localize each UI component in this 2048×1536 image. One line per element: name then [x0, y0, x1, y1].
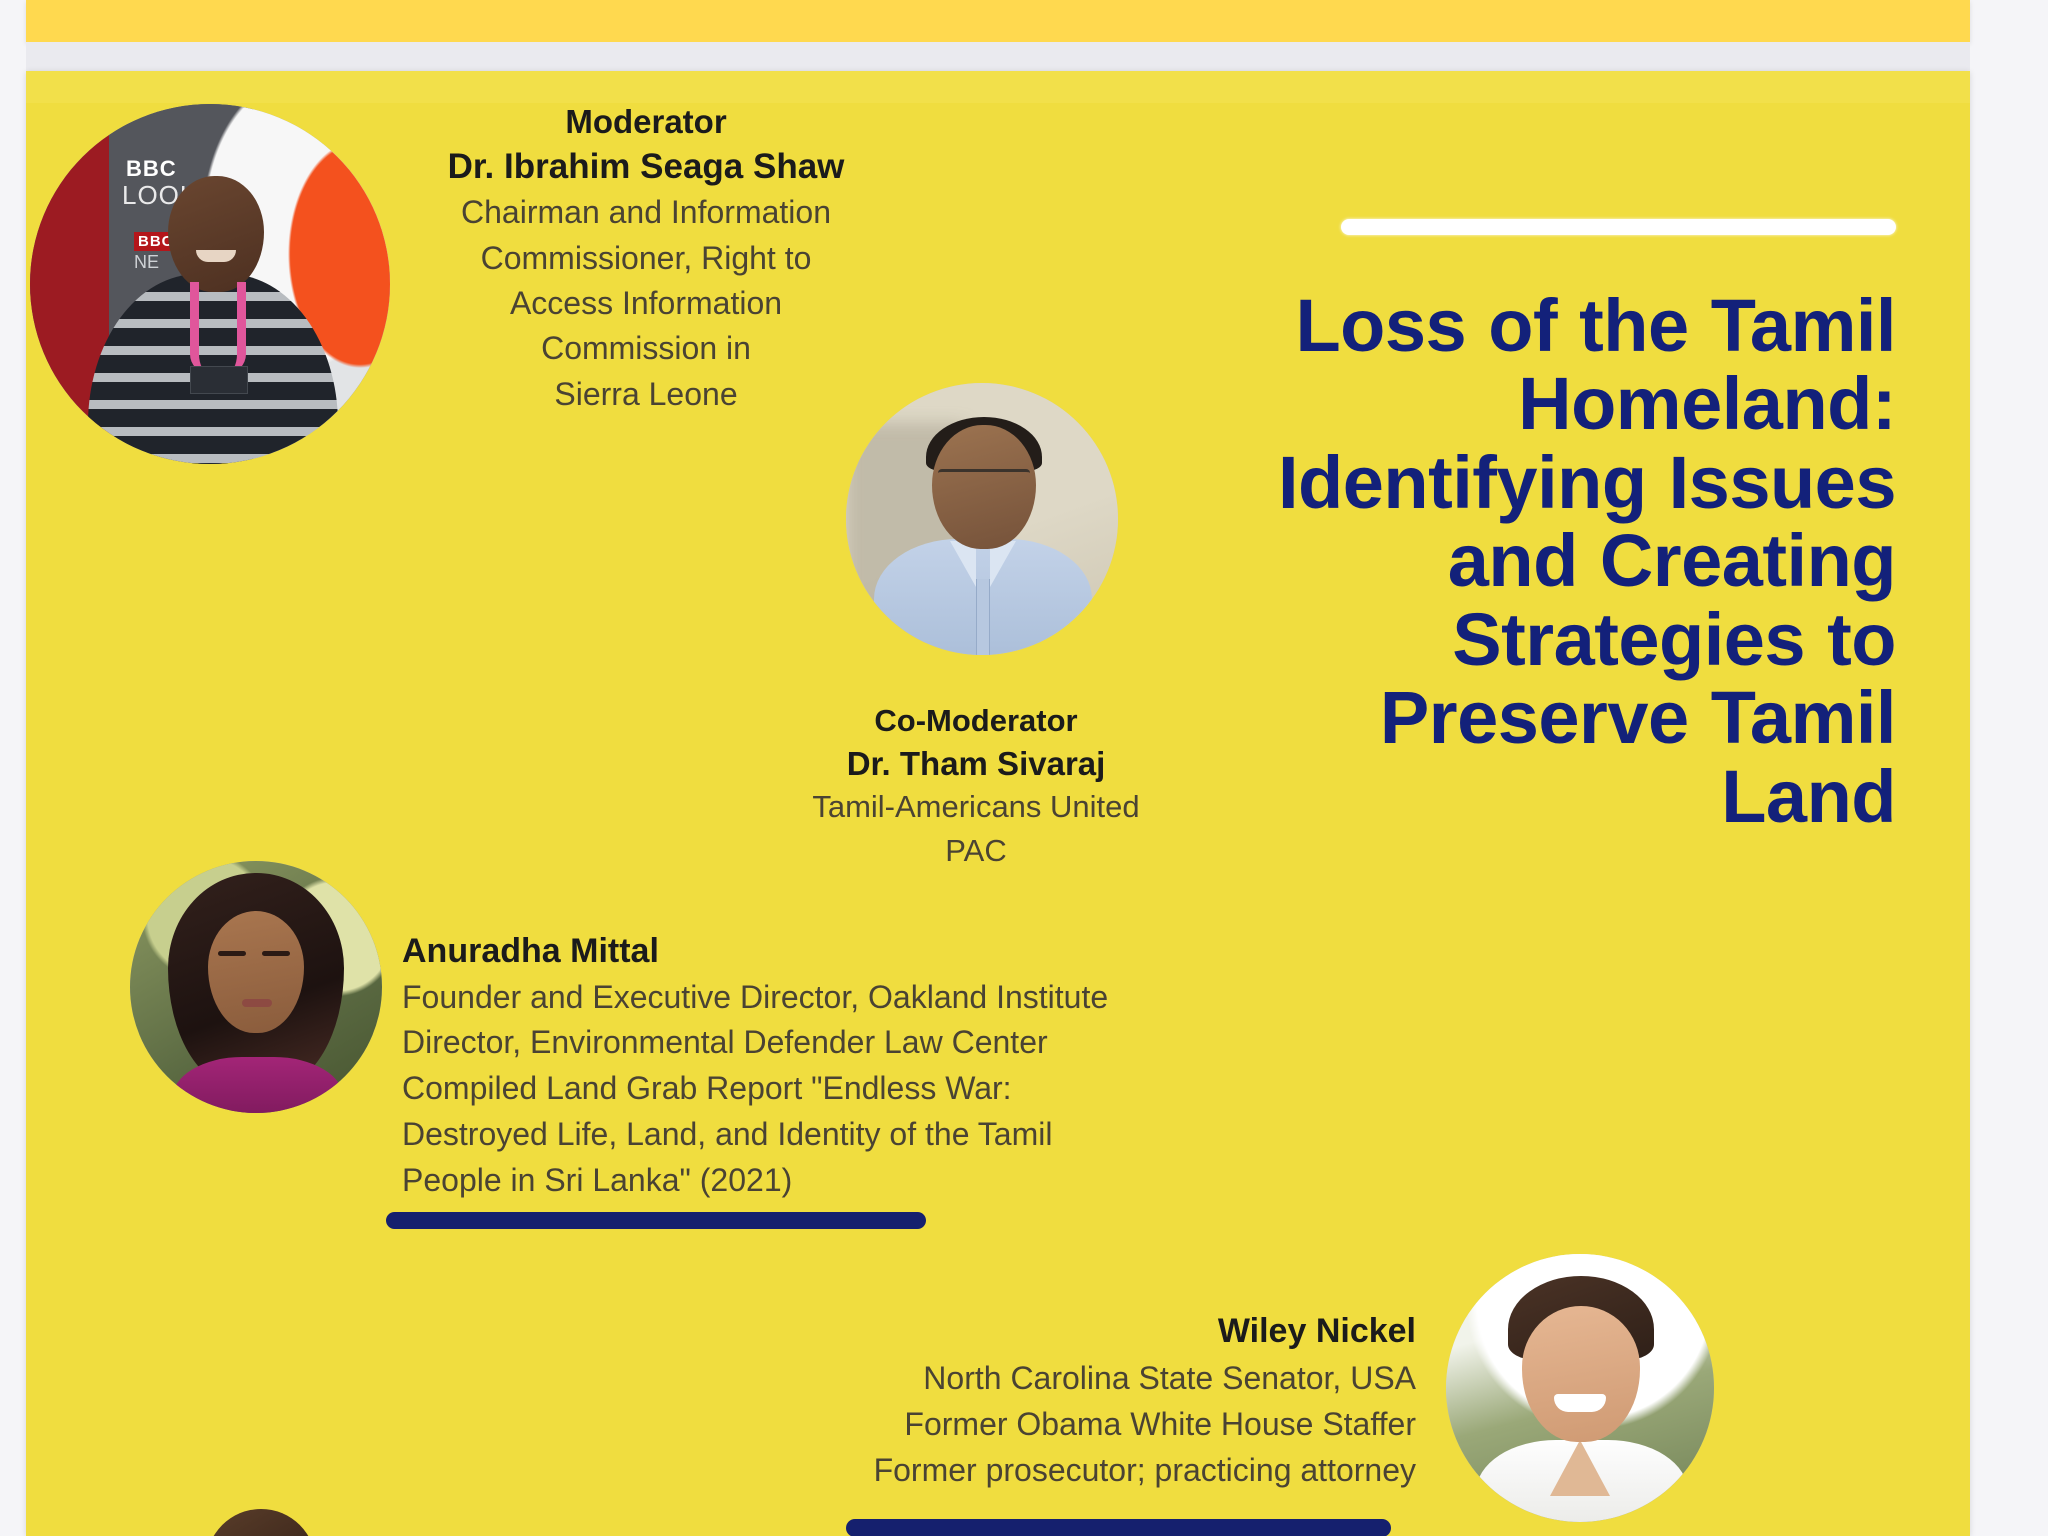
slide-viewer[interactable]: BBC LOOK BBC NE Moderator Dr. Ibrahim Se… — [0, 0, 2048, 1536]
speaker-name-anuradha: Anuradha Mittal — [402, 929, 1322, 975]
title-line: Strategies to — [1176, 601, 1896, 679]
event-flyer-slide[interactable]: BBC LOOK BBC NE Moderator Dr. Ibrahim Se… — [26, 71, 1970, 1536]
speaker-bio-tham: Tamil-Americans United PAC — [726, 785, 1226, 873]
speaker-bio-wiley: North Carolina State Senator, USA Former… — [606, 1355, 1416, 1493]
speaker-bio-anuradha: Founder and Executive Director, Oakland … — [402, 975, 1322, 1204]
bio-line: Commission in — [406, 326, 886, 371]
speaker-role-tham: Co-Moderator — [726, 701, 1226, 742]
bio-line: Commissioner, Right to — [406, 236, 886, 281]
speaker-block-ibrahim-seaga-shaw: Moderator Dr. Ibrahim Seaga Shaw Chairma… — [406, 101, 886, 417]
page-gutter-left — [0, 0, 26, 1536]
speaker-photo-anuradha-mittal — [130, 861, 382, 1113]
page-gutter-right — [1970, 0, 2048, 1536]
speaker-bio-shaw: Chairman and Information Commissioner, R… — [406, 190, 886, 417]
speaker-block-anuradha-mittal: Anuradha Mittal Founder and Executive Di… — [402, 929, 1322, 1203]
speaker-block-tham-sivaraj: Co-Moderator Dr. Tham Sivaraj Tamil-Amer… — [726, 701, 1226, 873]
bbc-logo-text: BBC — [126, 156, 177, 182]
speaker-name-wiley: Wiley Nickel — [606, 1309, 1416, 1355]
bio-line: Former prosecutor; practicing attorney — [606, 1447, 1416, 1493]
title-line: Preserve Tamil — [1176, 679, 1896, 757]
bio-line: Destroyed Life, Land, and Identity of th… — [402, 1112, 1322, 1158]
speaker-name-tham: Dr. Tham Sivaraj — [726, 742, 1226, 786]
speaker-photo-tham-sivaraj — [846, 383, 1118, 655]
bio-line: People in Sri Lanka" (2021) — [402, 1158, 1322, 1204]
bio-line: Sierra Leone — [406, 372, 886, 417]
speaker-photo-ibrahim-seaga-shaw: BBC LOOK BBC NE — [30, 104, 390, 464]
title-line: Identifying Issues — [1176, 444, 1896, 522]
speaker-block-wiley-nickel: Wiley Nickel North Carolina State Senato… — [606, 1309, 1416, 1493]
previous-slide-sliver[interactable] — [26, 0, 1970, 42]
title-line: and Creating — [1176, 522, 1896, 600]
bio-line: Compiled Land Grab Report "Endless War: — [402, 1066, 1322, 1112]
title-accent-rule — [1341, 219, 1896, 235]
title-line: Homeland: — [1176, 365, 1896, 443]
speaker-name-shaw: Dr. Ibrahim Seaga Shaw — [406, 144, 886, 190]
slide-gap — [26, 42, 1970, 71]
bbc-news-text: NE — [134, 252, 159, 273]
bio-line: Director, Environmental Defender Law Cen… — [402, 1020, 1322, 1066]
speaker-role-shaw: Moderator — [406, 101, 886, 144]
slide-title-group: Loss of the Tamil Homeland: Identifying … — [1176, 219, 1896, 836]
bio-line: North Carolina State Senator, USA — [606, 1355, 1416, 1401]
bio-line: Tamil-Americans United — [726, 785, 1226, 829]
page-title: Loss of the Tamil Homeland: Identifying … — [1176, 287, 1896, 836]
bio-line: Chairman and Information — [406, 190, 886, 235]
bio-line: PAC — [726, 829, 1226, 873]
speaker-photo-partial-next — [206, 1509, 316, 1536]
title-line: Land — [1176, 758, 1896, 836]
title-line: Loss of the Tamil — [1176, 287, 1896, 365]
speaker-photo-wiley-nickel — [1446, 1254, 1714, 1522]
bio-line: Access Information — [406, 281, 886, 326]
bio-line: Former Obama White House Staffer — [606, 1401, 1416, 1447]
navy-divider-rule — [386, 1212, 926, 1229]
navy-divider-rule-bottom — [846, 1519, 1391, 1536]
bio-line: Founder and Executive Director, Oakland … — [402, 975, 1322, 1021]
